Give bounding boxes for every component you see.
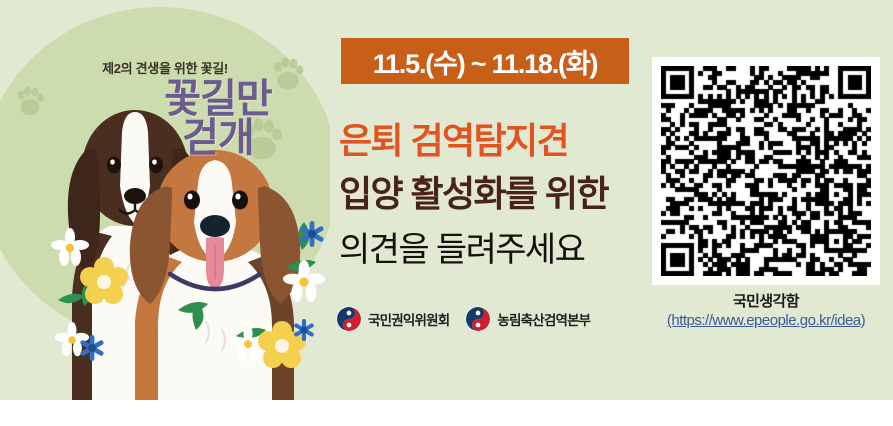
qr-section: 국민생각함 (https://www.epeople.go.kr/idea) [652, 57, 880, 329]
qr-code-icon[interactable] [652, 57, 880, 285]
bottom-whitespace [0, 400, 893, 426]
headline-line-2: 입양 활성화를 위한 [339, 165, 634, 217]
illustration-tagline-small: 제2의 견생을 위한 꽃길! [0, 58, 330, 77]
campaign-banner: 제2의 견생을 위한 꽃길! 꽃길만 걷개 11.5.(수) ~ 11.18.(… [0, 0, 893, 400]
taegeuk-icon [465, 306, 491, 332]
headline-line-3: 의견을 들려주세요 [339, 222, 634, 271]
message-column: 11.5.(수) ~ 11.18.(화) 은퇴 검역탐지견 입양 활성화를 위한… [336, 0, 636, 400]
qr-caption: 국민생각함 [652, 290, 880, 311]
agency-logos: 국민권익위원회 농림축산검역본부 [336, 306, 636, 332]
date-range-label: 11.5.(수) ~ 11.18.(화) [373, 42, 598, 81]
logo-qia-label: 농림축산검역본부 [497, 309, 590, 329]
illustration-tagline-big: 꽃길만 걷개 [118, 80, 318, 158]
dog-illustration: 제2의 견생을 위한 꽃길! 꽃길만 걷개 [0, 0, 330, 400]
date-range-banner: 11.5.(수) ~ 11.18.(화) [341, 38, 629, 84]
logo-qia: 농림축산검역본부 [465, 306, 590, 332]
logo-acrc: 국민권익위원회 [336, 306, 449, 332]
logo-acrc-label: 국민권익위원회 [368, 309, 449, 329]
qr-url-link[interactable]: (https://www.epeople.go.kr/idea) [652, 312, 880, 329]
headline-line-1: 은퇴 검역탐지견 [339, 112, 634, 164]
taegeuk-icon [336, 306, 362, 332]
